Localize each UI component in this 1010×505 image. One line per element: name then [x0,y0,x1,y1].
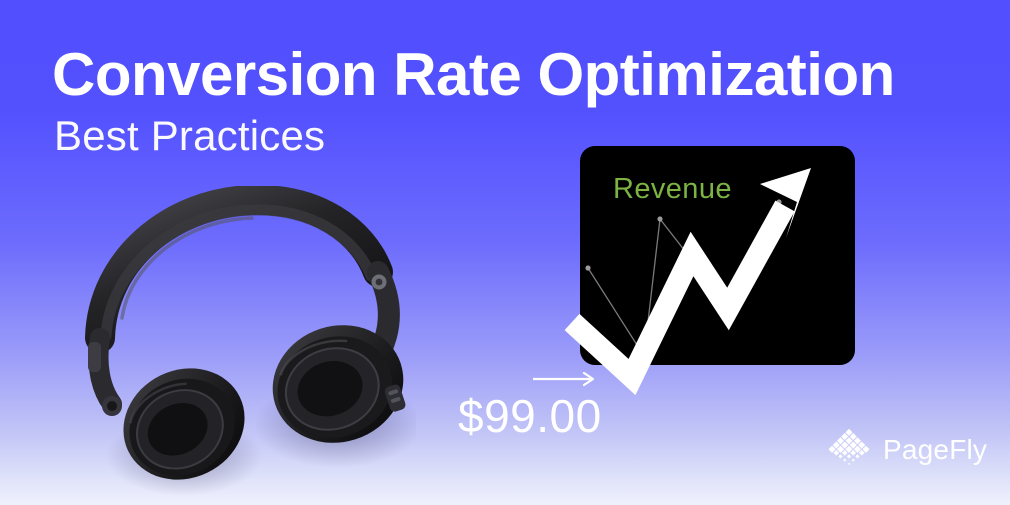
arrow-right-thin-icon [531,370,601,388]
product-price: $99.00 [458,391,602,442]
revenue-card: Revenue [580,146,855,365]
brand-name: PageFly [883,436,987,464]
pagefly-diamond-logo-icon [826,427,872,473]
trend-line-series [580,146,855,365]
brand-logo: PageFly [826,427,987,473]
promo-banner: Conversion Rate Optimization Best Practi… [0,0,1010,505]
headphones-product-image [66,186,416,505]
headline-block: Conversion Rate Optimization Best Practi… [52,44,952,158]
page-title: Conversion Rate Optimization [52,44,952,106]
